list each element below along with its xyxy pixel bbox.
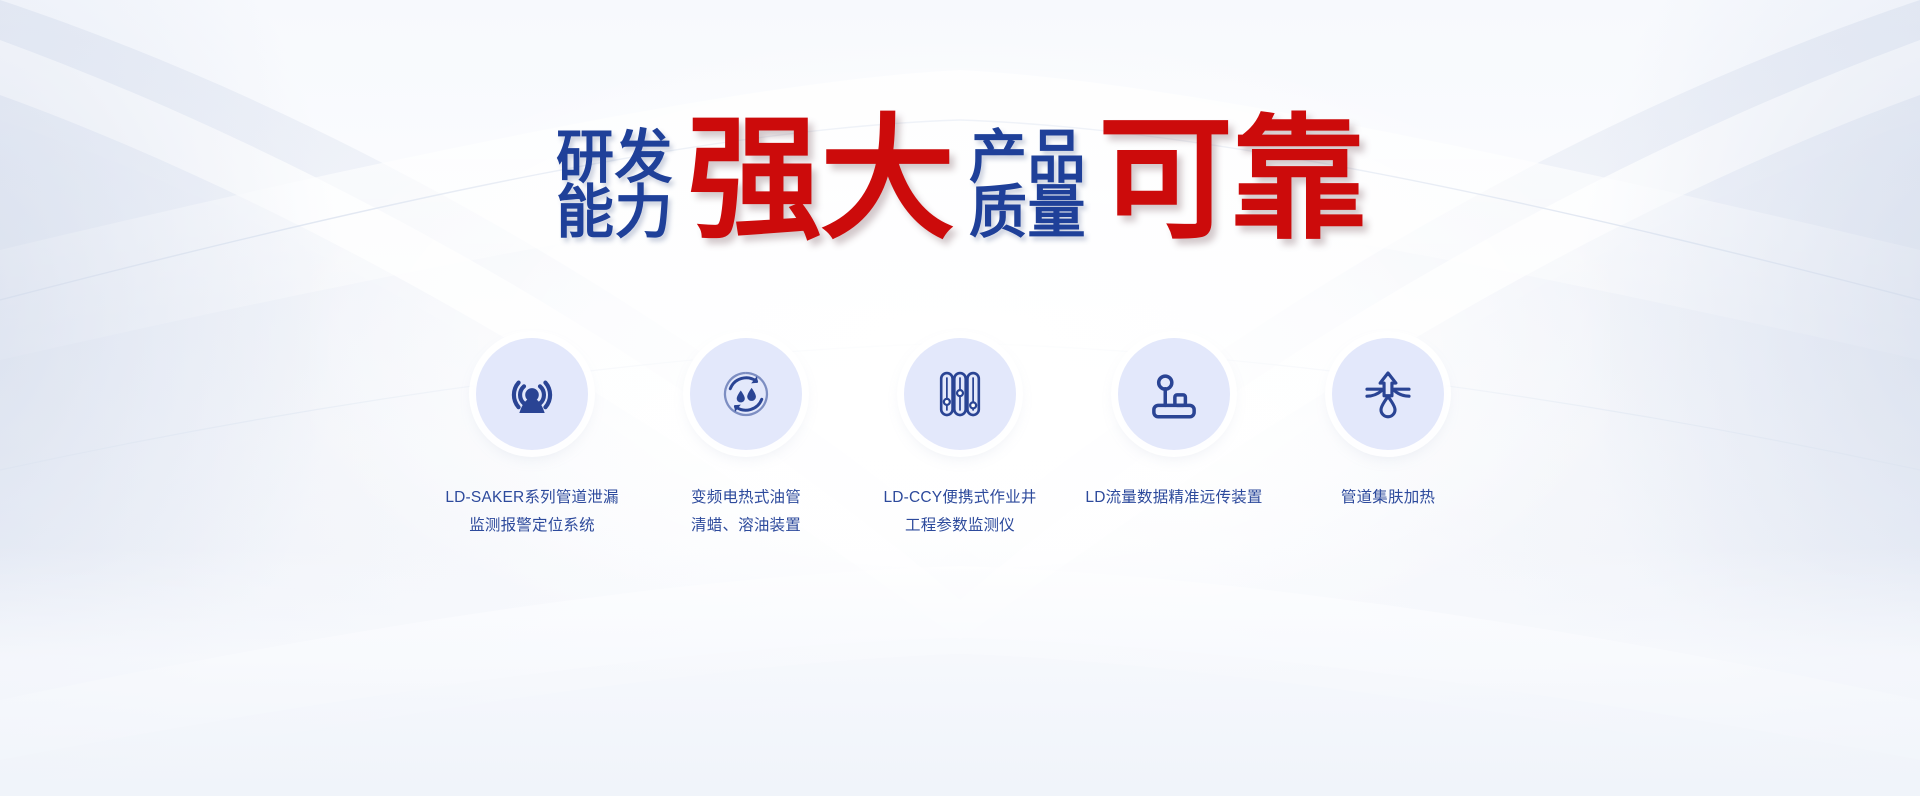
feature-icon-circle: [1332, 338, 1444, 450]
vertical-sliders-icon: [932, 366, 988, 422]
feature-item-wax-cleaning[interactable]: 变频电热式油管 清蜡、溶油装置: [639, 338, 853, 539]
feature-icon-circle: [690, 338, 802, 450]
feature-list: LD-SAKER系列管道泄漏 监测报警定位系统 变频电热式油管 清: [0, 338, 1920, 539]
feature-label: LD-CCY便携式作业井 工程参数监测仪: [883, 484, 1036, 539]
banner-stage: 研发 能力 强大 产品 质量 可靠: [0, 0, 1920, 796]
feature-label: LD流量数据精准远传装置: [1085, 484, 1262, 512]
feature-label: 变频电热式油管 清蜡、溶油装置: [691, 484, 801, 539]
feature-item-skin-heating[interactable]: 管道集肤加热: [1281, 338, 1495, 512]
signal-broadcast-icon: [503, 365, 561, 423]
feature-item-parameter-monitor[interactable]: LD-CCY便携式作业井 工程参数监测仪: [853, 338, 1067, 539]
feature-label: LD-SAKER系列管道泄漏 监测报警定位系统: [445, 484, 618, 539]
feature-icon-circle: [476, 338, 588, 450]
feature-item-flow-transmitter[interactable]: LD流量数据精准远传装置: [1067, 338, 1281, 512]
joystick-valve-icon: [1146, 366, 1202, 422]
heat-arrow-drop-icon: [1360, 366, 1416, 422]
feature-icon-circle: [904, 338, 1016, 450]
feature-label: 管道集肤加热: [1341, 484, 1435, 512]
water-drop-recycle-icon: [718, 366, 774, 422]
feature-item-leak-detection[interactable]: LD-SAKER系列管道泄漏 监测报警定位系统: [425, 338, 639, 539]
feature-icon-circle: [1118, 338, 1230, 450]
